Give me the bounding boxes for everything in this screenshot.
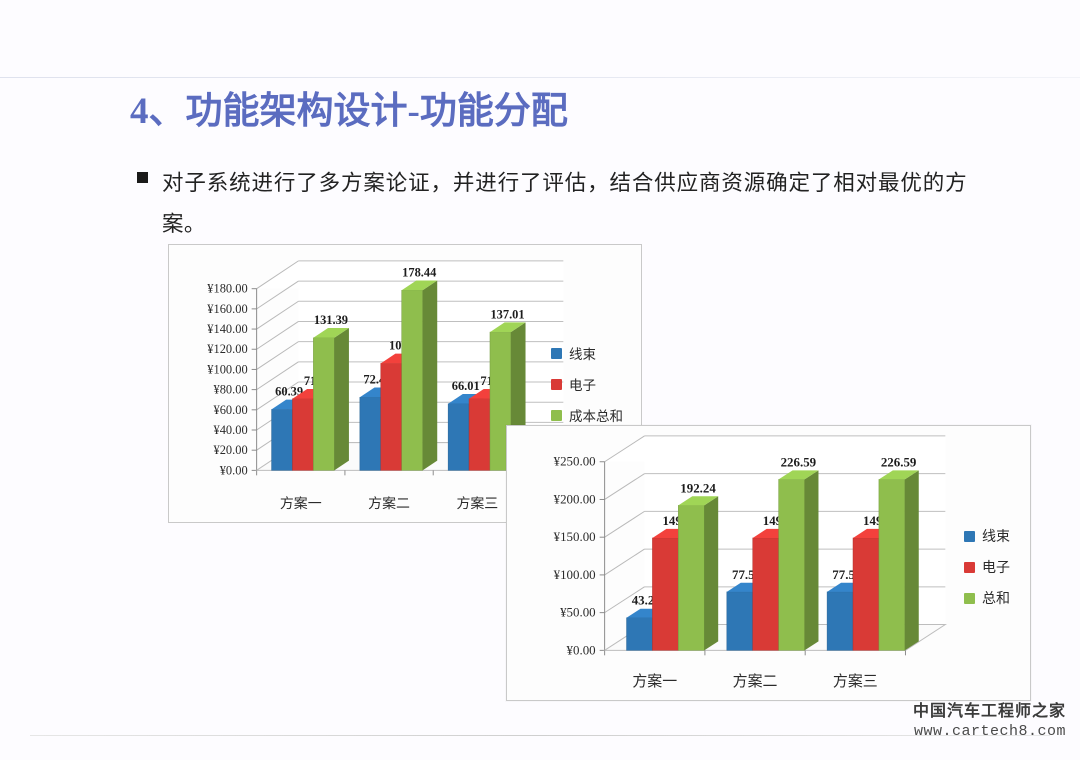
legend-swatch-total: [551, 410, 562, 421]
header-divider: [0, 77, 1080, 78]
svg-text:¥100.00: ¥100.00: [554, 567, 596, 582]
svg-text:131.39: 131.39: [314, 313, 348, 327]
legend-label: 电子: [569, 374, 596, 394]
legend-item: 电子: [964, 557, 1010, 577]
chart-2-svg: ¥0.00¥50.00¥100.00¥150.00¥200.00¥250.004…: [507, 426, 1030, 700]
svg-text:方案一: 方案一: [632, 672, 677, 690]
legend-label: 线束: [982, 526, 1010, 546]
chart-1-legend: 线束 电子 成本总和: [551, 343, 623, 425]
bullet-square-icon: [137, 172, 148, 183]
svg-text:137.01: 137.01: [490, 307, 524, 321]
legend-item: 总和: [964, 588, 1010, 608]
legend-label: 总和: [982, 588, 1010, 608]
svg-text:方案三: 方案三: [833, 672, 878, 690]
chart-2-container: ¥0.00¥50.00¥100.00¥150.00¥200.00¥250.004…: [506, 425, 1031, 701]
svg-text:方案二: 方案二: [368, 495, 410, 512]
legend-item: 电子: [551, 374, 623, 394]
svg-text:226.59: 226.59: [881, 454, 917, 469]
bullet-text: 对子系统进行了多方案论证，并进行了评估，结合供应商资源确定了相对最优的方案。: [162, 163, 967, 245]
svg-text:¥0.00: ¥0.00: [567, 642, 596, 657]
legend-label: 线束: [569, 343, 596, 363]
svg-text:66.01: 66.01: [452, 379, 480, 393]
svg-text:¥120.00: ¥120.00: [207, 342, 247, 356]
svg-text:¥80.00: ¥80.00: [213, 383, 247, 397]
legend-swatch-xianshu: [551, 348, 562, 359]
svg-text:¥100.00: ¥100.00: [207, 362, 247, 376]
svg-text:方案三: 方案三: [456, 495, 498, 512]
svg-text:¥150.00: ¥150.00: [554, 529, 596, 544]
svg-text:¥50.00: ¥50.00: [560, 605, 596, 620]
svg-text:226.59: 226.59: [781, 454, 817, 469]
legend-swatch-dianzi: [964, 562, 975, 573]
svg-text:方案一: 方案一: [280, 495, 322, 512]
chart-2-plot: ¥0.00¥50.00¥100.00¥150.00¥200.00¥250.004…: [507, 426, 1030, 700]
watermark: 中国汽车工程师之家 www.cartech8.com: [913, 703, 1066, 741]
svg-text:178.44: 178.44: [402, 266, 436, 280]
legend-swatch-xianshu: [964, 531, 975, 542]
legend-swatch-dianzi: [551, 379, 562, 390]
svg-text:¥250.00: ¥250.00: [554, 454, 596, 469]
svg-text:¥0.00: ¥0.00: [220, 463, 248, 477]
svg-text:192.24: 192.24: [680, 480, 716, 495]
legend-swatch-total: [964, 593, 975, 604]
svg-text:¥60.00: ¥60.00: [213, 403, 247, 417]
svg-text:¥160.00: ¥160.00: [207, 302, 247, 316]
svg-text:¥200.00: ¥200.00: [554, 491, 596, 506]
bullet-item: 对子系统进行了多方案论证，并进行了评估，结合供应商资源确定了相对最优的方案。: [137, 163, 967, 245]
page-title: 4、功能架构设计-功能分配: [130, 88, 568, 136]
footer-divider: [30, 735, 1050, 736]
svg-text:¥40.00: ¥40.00: [213, 423, 247, 437]
svg-text:方案二: 方案二: [733, 672, 778, 690]
legend-item: 线束: [551, 343, 623, 363]
slide-canvas: 4、功能架构设计-功能分配 对子系统进行了多方案论证，并进行了评估，结合供应商资…: [0, 0, 1080, 760]
legend-item: 成本总和: [551, 405, 623, 425]
chart-2-legend: 线束 电子 总和: [964, 526, 1010, 608]
legend-label: 成本总和: [569, 405, 623, 425]
watermark-url: www.cartech8.com: [913, 724, 1066, 741]
svg-text:¥140.00: ¥140.00: [207, 322, 247, 336]
legend-item: 线束: [964, 526, 1010, 546]
svg-text:¥20.00: ¥20.00: [213, 443, 247, 457]
watermark-title: 中国汽车工程师之家: [913, 703, 1066, 721]
svg-text:¥180.00: ¥180.00: [207, 282, 247, 296]
legend-label: 电子: [982, 557, 1010, 577]
